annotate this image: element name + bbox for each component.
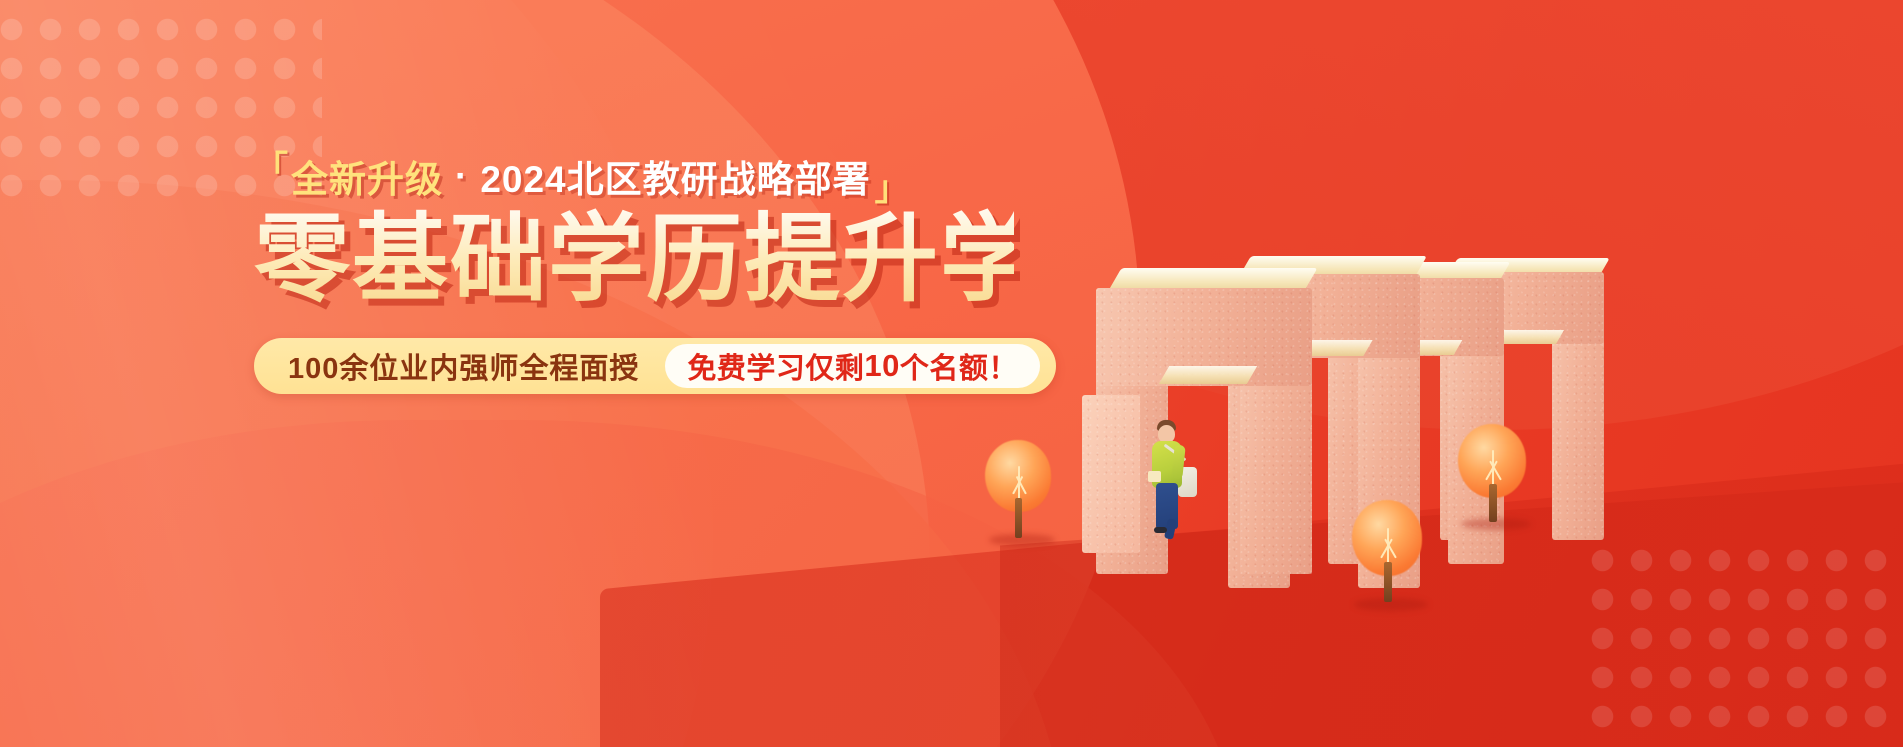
promo-banner: 「 全新升级 · 2024北区教研战略部署 」 零基础学历提升学霸班 100余位… xyxy=(0,0,1903,747)
banner-title: 零基础学历提升学霸班 xyxy=(254,208,1014,312)
tree-mid xyxy=(1352,500,1430,612)
eyebrow-rest: 2024北区教研战略部署 xyxy=(480,149,870,203)
eyebrow-highlight: 全新升级 xyxy=(291,149,443,203)
badge-prefix: 免费学习仅剩 xyxy=(687,345,864,387)
seats-badge[interactable]: 免费学习仅剩10个名额！ xyxy=(665,344,1040,388)
book-front-panel xyxy=(1082,395,1142,555)
tree-left xyxy=(985,440,1059,550)
held-book-icon xyxy=(1148,471,1161,482)
tree-right xyxy=(1458,424,1534,532)
eyebrow-separator: · xyxy=(455,155,468,197)
shoe xyxy=(1154,527,1167,533)
student-walking-figure xyxy=(1146,415,1206,545)
badge-number: 10 xyxy=(864,348,899,384)
highlight-pill[interactable]: 100余位业内强师全程面授 免费学习仅剩10个名额！ xyxy=(254,338,1056,394)
pill-left-label: 100余位业内强师全程面授 xyxy=(288,345,639,387)
bracket-right: 」 xyxy=(875,172,910,206)
eyebrow-line: 「 全新升级 · 2024北区教研战略部署 」 xyxy=(254,150,1014,202)
bracket-left: 「 xyxy=(254,152,289,186)
badge-suffix: 个名额！ xyxy=(900,345,1018,387)
banner-copy: 「 全新升级 · 2024北区教研战略部署 」 零基础学历提升学霸班 100余位… xyxy=(254,150,1014,394)
